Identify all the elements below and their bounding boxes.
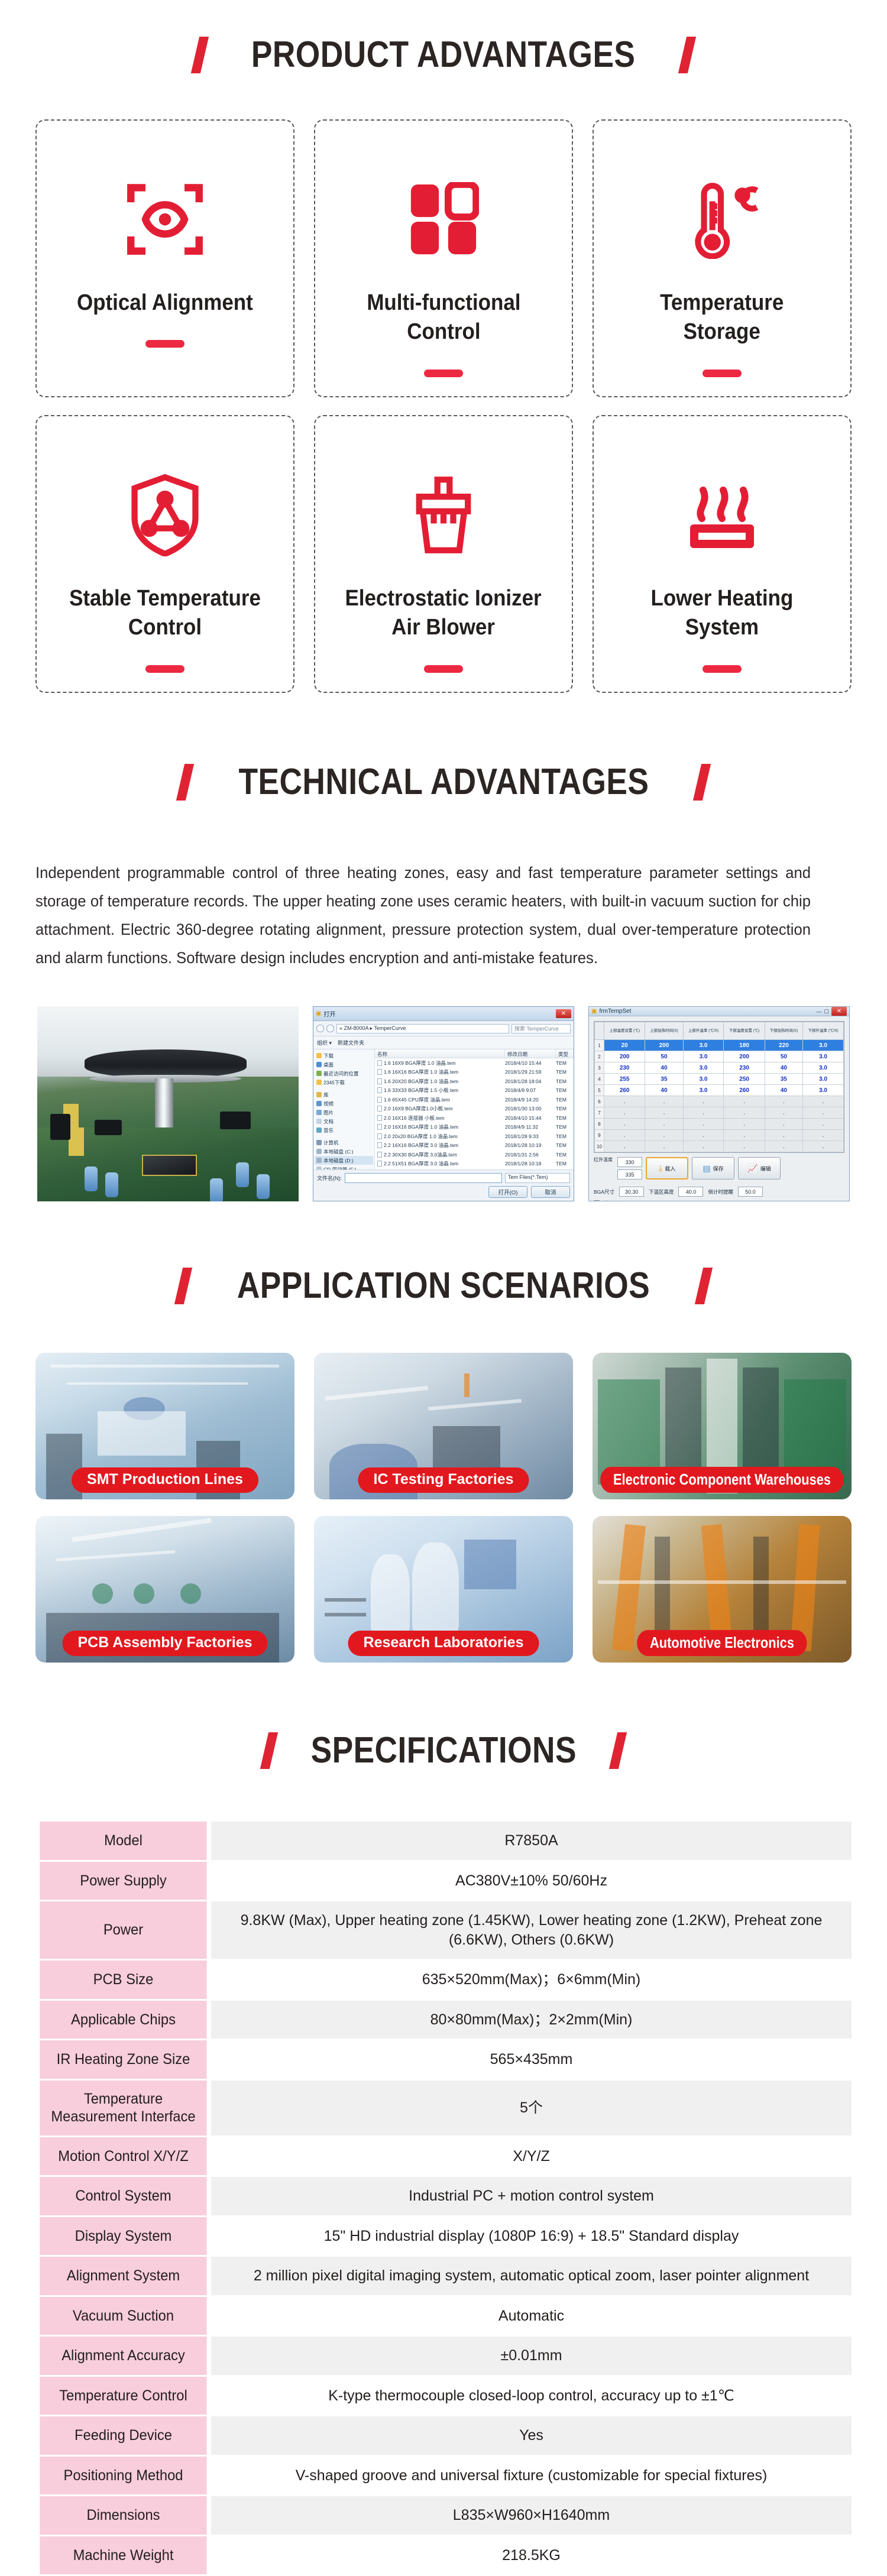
spec-row: Temperature Measurement Interface5个	[35, 2081, 852, 2136]
scenario-card-grid: SMT Production Lines IC Testing Factorie…	[0, 1353, 887, 1663]
spec-row: Feeding DeviceYes	[35, 2416, 852, 2455]
advantage-card-lower-heating-system[interactable]: Lower HeatingSystem	[593, 415, 852, 693]
section-title-text: SPECIFICATIONS	[310, 1732, 576, 1769]
advantage-card-grid: Optical Alignment Multi-functionalContro…	[0, 119, 887, 693]
spec-value: L835×W960×H1640mm	[211, 2496, 852, 2535]
chart-icon: 📈	[747, 1164, 757, 1174]
spec-key: Motion Control X/Y/Z	[40, 2137, 206, 2176]
temp-cell[interactable]: 3.0	[803, 1085, 844, 1096]
technical-description: Independent programmable control of thre…	[35, 858, 811, 972]
file-icon	[377, 1133, 382, 1139]
temp-cell[interactable]: .	[683, 1119, 724, 1130]
temp-column-header: 上部加热时间(S)	[645, 1022, 683, 1040]
spec-key: Temperature Control	[40, 2377, 206, 2415]
temp-cell[interactable]: .	[645, 1107, 683, 1119]
temp-cell[interactable]: .	[765, 1119, 802, 1130]
row-index: 5	[595, 1085, 604, 1096]
forward-icon[interactable]	[326, 1025, 334, 1032]
load-button[interactable]: ⤓ 载入	[646, 1157, 688, 1180]
section-title-text: APPLICATION SCENARIOS	[237, 1268, 650, 1304]
file-icon	[377, 1161, 382, 1167]
file-row[interactable]: 1.6 20X20 BGA厚度 1.0 油晶.tem2018/1/28 18:0…	[375, 1077, 574, 1086]
temp-cell[interactable]: 3.0	[803, 1051, 844, 1062]
spec-row: Machine Weight218.5KG	[35, 2536, 852, 2575]
spec-row: Display System15" HD industrial display …	[35, 2217, 852, 2256]
file-name: 1.6 33X33 BGA厚度 1.5 小板.tem	[384, 1087, 458, 1094]
dialog-sidebar[interactable]: 下载 桌面 最近访问的位置 2345下载 库 视频 图片 文档 音乐 计算机 本…	[313, 1049, 375, 1169]
file-type: TEM	[556, 1133, 574, 1139]
file-name: 2.2 30X30 BGA厚度 3.0油晶.tem	[384, 1151, 457, 1158]
advantage-card-optical-alignment[interactable]: Optical Alignment	[35, 119, 294, 397]
file-icon	[377, 1142, 382, 1148]
scenario-card-electronic-component-warehouses[interactable]: Electronic Component Warehouses	[593, 1353, 852, 1499]
spec-key: Control System	[40, 2177, 206, 2215]
edit-button[interactable]: 📈 编辑	[738, 1157, 781, 1180]
scenario-card-smt-production-lines[interactable]: SMT Production Lines	[35, 1353, 294, 1499]
title-slash-left-icon	[260, 1732, 278, 1769]
temp-row[interactable]: 3230403.0230403.0	[595, 1062, 844, 1074]
file-row[interactable]: 2.0 16X16 BGA厚度 1.0 油晶.tem2018/4/9 11:32…	[375, 1123, 574, 1132]
temp-cell[interactable]: .	[683, 1141, 724, 1152]
file-row[interactable]: 1.6 16X9 BGA厚度 1.0 油晶.tem2018/4/10 15:44…	[375, 1058, 574, 1068]
open-button[interactable]: 打开(O)	[488, 1186, 527, 1198]
spec-row: PCB Size635×520mm(Max)；6×6mm(Min)	[35, 1961, 852, 1999]
temp-cell[interactable]: 20	[604, 1040, 645, 1051]
spec-key: IR Heating Zone Size	[40, 2040, 206, 2079]
spec-row: Motion Control X/Y/ZX/Y/Z	[35, 2137, 852, 2176]
application-scenarios-title: APPLICATION SCENARIOS	[0, 1268, 887, 1304]
temp-cell[interactable]: 35	[645, 1074, 683, 1085]
advantage-card-electrostatic-ionizer[interactable]: Electrostatic IonizerAir Blower	[314, 415, 573, 693]
scenario-badge: Research Laboratories	[348, 1631, 539, 1656]
spec-key: PCB Size	[40, 1961, 206, 1999]
file-row[interactable]: 2.0 20x20 BGA厚度 1.0 油晶.tem2018/1/28 9:33…	[375, 1132, 574, 1141]
file-type: TEM	[556, 1142, 574, 1148]
temperature-profile-settings-screenshot[interactable]: ▣ frmTempSet ― ▢ ✕ 上部温度设置 (℃)上部加热时间(S)上部…	[588, 1006, 850, 1201]
file-icon	[377, 1060, 382, 1066]
dialog-navbar: « ZM-8000A ▸ TemperCurve 搜索 TemperCurve	[313, 1021, 574, 1036]
spec-value: 9.8KW (Max), Upper heating zone (1.45KW)…	[211, 1901, 852, 1959]
file-type: TEM	[556, 1087, 574, 1093]
file-type: TEM	[556, 1078, 574, 1084]
advantage-label: Lower HeatingSystem	[651, 584, 794, 643]
spec-value: V-shaped groove and universal fixture (c…	[211, 2457, 852, 2495]
temp-cell[interactable]: 40	[645, 1085, 683, 1096]
file-list-header: 名称 修改日期 类型	[375, 1049, 574, 1058]
filetype-select[interactable]: Tem Files(*.Tem)	[505, 1173, 570, 1183]
file-icon	[377, 1115, 382, 1121]
scenario-card-research-laboratories[interactable]: Research Laboratories	[314, 1516, 573, 1663]
product-advantages-section: PRODUCT ADVANTAGES Optical Alignment	[0, 0, 887, 693]
advantage-rule	[424, 665, 463, 673]
file-name: 2.0 16X16 BGA厚度 1.0 油晶.tem	[384, 1123, 458, 1130]
file-row[interactable]: 2.2 30X30 BGA厚度 3.0油晶.tem2018/1/31 2:56T…	[375, 1150, 574, 1159]
temp-cell[interactable]: 180	[724, 1040, 765, 1051]
spec-row: Alignment Accuracy±0.01mm	[35, 2337, 852, 2375]
bga-size-value[interactable]: 30,30	[619, 1187, 644, 1197]
sidebar-item: 本地磁盘 (C:)	[315, 1147, 373, 1156]
temp-column-header: 下部温度设置 (℃)	[724, 1022, 765, 1040]
optical-alignment-icon	[126, 175, 204, 264]
spec-value: 15" HD industrial display (1080P 16:9) +…	[211, 2217, 852, 2256]
temp-cell[interactable]: .	[604, 1119, 645, 1130]
temp-cell[interactable]: .	[683, 1096, 724, 1107]
spec-row: ModelR7850A	[35, 1822, 852, 1860]
temp-row[interactable]: 9......	[595, 1130, 844, 1141]
file-date: 2018/4/9 9:07	[505, 1087, 556, 1093]
temp-cell[interactable]: .	[765, 1130, 802, 1141]
temp-cell[interactable]: .	[724, 1130, 765, 1141]
file-type: TEM	[556, 1152, 574, 1158]
load-icon: ⤓	[659, 1164, 663, 1174]
temp-cell[interactable]: .	[803, 1141, 844, 1152]
new-folder-button[interactable]: 新建文件夹	[338, 1039, 364, 1046]
column-header-type[interactable]: 类型	[556, 1049, 574, 1058]
temp-cell[interactable]: 3.0	[683, 1040, 724, 1051]
sidebar-item: 文档	[315, 1117, 373, 1126]
file-name: 2.2 51X51 BGA厚度 3.0 油晶.tem	[384, 1160, 458, 1167]
temp-column-header: 上部升温率 (℃/S)	[683, 1022, 724, 1040]
scenario-card-ic-testing-factories[interactable]: IC Testing Factories	[314, 1353, 573, 1499]
spec-key: Display System	[40, 2217, 206, 2256]
sidebar-item: 最近访问的位置	[315, 1069, 373, 1078]
specifications-section: SPECIFICATIONS ModelR7850APower SupplyAC…	[0, 1663, 887, 2576]
title-slash-right-icon	[695, 1268, 713, 1304]
file-date: 2018/1/29 21:59	[505, 1069, 556, 1075]
ir-temp-value-1[interactable]: 330	[617, 1157, 642, 1167]
specifications-title: SPECIFICATIONS	[0, 1732, 887, 1769]
file-date: 2018/1/28 9:33	[505, 1133, 556, 1139]
product-advantages-title: PRODUCT ADVANTAGES	[0, 37, 887, 73]
timer-value[interactable]: 50.0	[738, 1187, 763, 1197]
temp-cell[interactable]: .	[724, 1141, 765, 1152]
temp-cell[interactable]: 3.0	[683, 1051, 724, 1062]
file-date: 2018/1/28 10:19	[505, 1142, 556, 1148]
row-index: 1	[595, 1040, 604, 1051]
file-name: 1.6 20X20 BGA厚度 1.0 油晶.tem	[384, 1078, 458, 1085]
file-date: 2018/4/9 11:32	[505, 1124, 556, 1130]
temp-cell[interactable]: 200	[645, 1040, 683, 1051]
file-icon	[377, 1106, 382, 1112]
temp-cell[interactable]: 3.0	[683, 1074, 724, 1085]
application-scenarios-section: APPLICATION SCENARIOS SMT Production Lin…	[0, 1201, 887, 1663]
temp-cell[interactable]: 50	[645, 1051, 683, 1062]
advantage-label: Optical Alignment	[77, 289, 253, 317]
temp-cell[interactable]: 35	[765, 1074, 802, 1085]
spec-value: R7850A	[211, 1822, 852, 1860]
spec-row: DimensionsL835×W960×H1640mm	[35, 2496, 852, 2535]
file-row[interactable]: 2.2 16X16 BGA厚度 3.0 油晶.tem2018/1/28 10:1…	[375, 1141, 574, 1151]
title-slash-right-icon	[609, 1732, 627, 1769]
file-type: TEM	[556, 1115, 574, 1121]
spec-value: X/Y/Z	[211, 2137, 852, 2176]
spec-key: Model	[40, 1822, 206, 1860]
spec-key: Alignment System	[40, 2257, 206, 2295]
file-type: TEM	[556, 1097, 574, 1103]
temp-cell[interactable]: 220	[765, 1040, 802, 1051]
dialog-commandbar: 组织 ▾ 新建文件夹	[313, 1036, 574, 1049]
temp-cell[interactable]: .	[765, 1096, 802, 1107]
temp-cell[interactable]: 3.0	[803, 1074, 844, 1085]
page-title: PRODUCT ADVANTAGES	[251, 37, 636, 73]
file-row[interactable]: 2.2 51X51 BGA厚度 3.0 油晶.tem2018/1/28 10:1…	[375, 1159, 574, 1169]
file-type: TEM	[556, 1069, 574, 1075]
temp-cell[interactable]: .	[604, 1141, 645, 1152]
spec-key: Dimensions	[40, 2496, 206, 2535]
file-icon	[377, 1152, 382, 1158]
advantage-label: Multi-functionalControl	[367, 289, 520, 347]
nitrogen-label: 使用氮气	[604, 1200, 624, 1201]
sidebar-item: 计算机	[315, 1138, 373, 1147]
lowzone-value[interactable]: 40.0	[678, 1187, 703, 1197]
nitrogen-checkbox[interactable]	[594, 1200, 600, 1201]
specifications-table: ModelR7850APower SupplyAC380V±10% 50/60H…	[35, 1820, 852, 2576]
spec-row: Vacuum SuctionAutomatic	[35, 2297, 852, 2335]
spec-value: 80×80mm(Max)；2×2mm(Min)	[211, 2001, 852, 2039]
spec-key: Power	[40, 1901, 206, 1959]
temp-row[interactable]: 1202003.01802203.0	[595, 1040, 844, 1051]
temp-cell[interactable]: 260	[724, 1085, 765, 1096]
spec-row: IR Heating Zone Size565×435mm	[35, 2040, 852, 2079]
temp-row[interactable]: 5260403.0260403.0	[595, 1085, 844, 1096]
scenario-badge: SMT Production Lines	[72, 1467, 258, 1493]
advantage-card-temperature-storage[interactable]: TemperatureStorage	[593, 119, 852, 397]
dialog-titlebar: ▣ 打开 ✕	[313, 1007, 574, 1021]
temp-cell[interactable]: 50	[765, 1051, 802, 1062]
temp-cell[interactable]: 40	[645, 1062, 683, 1074]
advantage-rule	[424, 370, 463, 377]
windows-open-file-dialog-screenshot[interactable]: ▣ 打开 ✕ « ZM-8000A ▸ TemperCurve 搜索 Tempe…	[313, 1006, 574, 1201]
spec-value: 635×520mm(Max)；6×6mm(Min)	[211, 1961, 852, 1999]
scenario-card-pcb-assembly-factories[interactable]: PCB Assembly Factories	[35, 1516, 294, 1663]
file-date: 2018/1/28 10:18	[505, 1161, 556, 1167]
spec-key: Positioning Method	[40, 2457, 206, 2495]
spec-value: ±0.01mm	[211, 2337, 852, 2375]
file-name: 2.0 16X9 BGA厚度1.0小板.tem	[384, 1105, 453, 1112]
temp-column-header: 上部温度设置 (℃)	[604, 1022, 645, 1040]
temp-cell[interactable]: 3.0	[803, 1062, 844, 1074]
title-slash-right-icon	[678, 37, 695, 73]
temp-cell[interactable]: .	[803, 1130, 844, 1141]
temp-cell[interactable]: 3.0	[803, 1040, 844, 1051]
file-type: TEM	[556, 1161, 574, 1167]
organize-button[interactable]: 组织 ▾	[317, 1039, 332, 1046]
row-index: 7	[595, 1107, 604, 1119]
temp-cell[interactable]: .	[604, 1130, 645, 1141]
spec-row: Temperature ControlK-type thermocouple c…	[35, 2377, 852, 2415]
save-icon: ▤	[703, 1164, 710, 1174]
column-header-name[interactable]: 名称	[375, 1049, 505, 1058]
file-name: 1.6 65X45 CPU厚度 油晶.tem	[384, 1096, 450, 1103]
title-slash-left-icon	[191, 37, 209, 73]
row-index: 3	[595, 1062, 604, 1074]
file-row[interactable]: 1.6 65X45 CPU厚度 油晶.tem2018/4/9 14:20TEM	[375, 1095, 574, 1104]
temp-cell[interactable]: .	[645, 1130, 683, 1141]
temperature-profile-table[interactable]: 上部温度设置 (℃)上部加热时间(S)上部升温率 (℃/S)下部温度设置 (℃)…	[594, 1021, 844, 1153]
spec-key: Alignment Accuracy	[40, 2337, 206, 2375]
temp-cell[interactable]: .	[604, 1096, 645, 1107]
bga-size-label: BGA尺寸	[594, 1188, 614, 1195]
file-type: TEM	[556, 1106, 574, 1112]
file-icon	[377, 1124, 382, 1130]
column-header-date[interactable]: 修改日期	[505, 1049, 556, 1058]
search-input[interactable]: 搜索 TemperCurve	[512, 1024, 571, 1033]
multi-function-grid-icon	[408, 175, 479, 264]
file-row[interactable]: 2.0 16X9 BGA厚度1.0小板.tem2018/1/30 13:00TE…	[375, 1104, 574, 1114]
file-icon	[377, 1078, 382, 1084]
file-date: 2018/4/10 15:44	[505, 1060, 556, 1066]
temp-cell[interactable]: .	[803, 1119, 844, 1130]
temp-cell[interactable]: 230	[724, 1062, 765, 1074]
advantage-label: Stable TemperatureControl	[69, 584, 261, 643]
lowzone-label: 下温区高度	[649, 1188, 674, 1195]
temp-row[interactable]: 4255353.0250353.0	[595, 1074, 844, 1085]
sidebar-item: 库	[315, 1090, 373, 1099]
temp-column-header: 下部加热时间(S)	[765, 1022, 802, 1040]
temp-row[interactable]: 2200503.0200503.0	[595, 1051, 844, 1062]
technical-advantages-title: TECHNICAL ADVANTAGES	[0, 764, 887, 801]
scenario-badge: PCB Assembly Factories	[62, 1631, 267, 1656]
temp-cell[interactable]: 255	[604, 1074, 645, 1085]
file-name: 2.0 16X16 连接器 小板.tem	[384, 1114, 445, 1122]
ir-temp-value-2[interactable]: 335	[617, 1169, 642, 1180]
cancel-button[interactable]: 取消	[531, 1186, 570, 1198]
sidebar-item: 音乐	[315, 1126, 373, 1135]
temp-cell[interactable]: 200	[604, 1051, 645, 1062]
advantage-rule	[145, 340, 184, 348]
dialog-footer: 文件名(N): Tem Files(*.Tem) 打开(O) 取消	[313, 1169, 574, 1201]
temp-cell[interactable]: 230	[604, 1062, 645, 1074]
spec-key: Machine Weight	[40, 2536, 206, 2575]
sidebar-item: 2345下载	[315, 1078, 373, 1087]
sidebar-item: 桌面	[315, 1060, 373, 1069]
dialog-title: 打开	[323, 1009, 553, 1018]
temp-cell[interactable]: 250	[724, 1074, 765, 1085]
spec-row: Control SystemIndustrial PC + motion con…	[35, 2177, 852, 2215]
temp-row[interactable]: 7......	[595, 1107, 844, 1119]
temp-cell[interactable]: 3.0	[683, 1062, 724, 1074]
file-name: 2.2 16X16 BGA厚度 3.0 油晶.tem	[384, 1142, 458, 1149]
temp-row[interactable]: 8......	[595, 1119, 844, 1130]
filename-label: 文件名(N):	[317, 1174, 342, 1182]
sidebar-item: 本地磁盘 (D:)	[315, 1156, 373, 1165]
spec-key: Feeding Device	[40, 2416, 206, 2455]
temp-cell[interactable]: .	[604, 1107, 645, 1119]
row-index: 8	[595, 1119, 604, 1130]
spec-key: Applicable Chips	[40, 2001, 206, 2039]
technical-images-row: ▣ 打开 ✕ « ZM-8000A ▸ TemperCurve 搜索 Tempe…	[0, 1006, 887, 1201]
temp-cell[interactable]: .	[803, 1107, 844, 1119]
temp-cell[interactable]: .	[803, 1096, 844, 1107]
ionizer-blower-icon	[407, 471, 480, 559]
temp-cell[interactable]: 40	[765, 1062, 802, 1074]
row-index: 10	[595, 1141, 604, 1152]
section-title-text: TECHNICAL ADVANTAGES	[238, 764, 649, 801]
temp-cell[interactable]: .	[683, 1130, 724, 1141]
file-name: 2.0 20x20 BGA厚度 1.0 油晶.tem	[384, 1133, 458, 1140]
temp-cell[interactable]: .	[765, 1107, 802, 1119]
row-index: 6	[595, 1096, 604, 1107]
temp-cell[interactable]: .	[724, 1107, 765, 1119]
advantage-card-multi-functional-control[interactable]: Multi-functionalControl	[314, 119, 573, 397]
temp-panel-titlebar: ▣ frmTempSet ― ▢ ✕	[589, 1007, 849, 1016]
spec-row: Power9.8KW (Max), Upper heating zone (1.…	[35, 1901, 852, 1959]
close-icon[interactable]: ✕	[831, 1007, 847, 1016]
spec-row: Applicable Chips80×80mm(Max)；2×2mm(Min)	[35, 2001, 852, 2039]
spec-row: Positioning MethodV-shaped groove and un…	[35, 2457, 852, 2495]
filename-input[interactable]	[345, 1173, 502, 1183]
temp-row[interactable]: 10......	[595, 1141, 844, 1152]
scenario-card-automotive-electronics[interactable]: Automotive Electronics	[593, 1516, 852, 1663]
title-slash-left-icon	[174, 1268, 192, 1304]
spec-value: K-type thermocouple closed-loop control,…	[211, 2377, 852, 2415]
sidebar-item: 下载	[315, 1051, 373, 1060]
path-breadcrumb[interactable]: « ZM-8000A ▸ TemperCurve	[336, 1024, 509, 1033]
ir-temp-label: 红外温度	[594, 1157, 614, 1163]
advantage-label: TemperatureStorage	[660, 289, 784, 347]
shield-triangle-icon	[128, 471, 202, 559]
temp-cell[interactable]: 3.0	[683, 1085, 724, 1096]
file-date: 2018/4/9 14:20	[505, 1097, 556, 1103]
file-row[interactable]: 1.6 33X33 BGA厚度 1.5 小板.tem2018/4/9 9:07T…	[375, 1086, 574, 1096]
spec-row: Alignment System2 million pixel digital …	[35, 2257, 852, 2295]
advantage-rule	[703, 370, 742, 377]
file-icon	[377, 1097, 382, 1103]
back-icon[interactable]	[316, 1025, 324, 1032]
save-button[interactable]: ▤ 保存	[692, 1157, 734, 1180]
scenario-badge: Electronic Component Warehouses	[600, 1467, 844, 1493]
temp-cell[interactable]: 200	[724, 1051, 765, 1062]
file-date: 2018/1/30 13:00	[505, 1106, 556, 1112]
sidebar-item: 视频	[315, 1099, 373, 1108]
temp-cell[interactable]: .	[683, 1107, 724, 1119]
file-icon	[377, 1087, 382, 1093]
advantage-card-stable-temperature-control[interactable]: Stable TemperatureControl	[35, 415, 294, 693]
row-index: 9	[595, 1130, 604, 1141]
thermometer-celsius-icon	[685, 175, 759, 264]
file-row[interactable]: 1.6 16X16 BGA厚度 1.0 油晶.tem2018/1/29 21:5…	[375, 1068, 574, 1077]
title-slash-left-icon	[176, 764, 193, 801]
file-list[interactable]: 名称 修改日期 类型 1.6 16X9 BGA厚度 1.0 油晶.tem2018…	[375, 1049, 574, 1169]
temp-row[interactable]: 6......	[595, 1096, 844, 1107]
temp-cell[interactable]: .	[645, 1141, 683, 1152]
spec-value: 218.5KG	[211, 2536, 852, 2575]
spec-value: AC380V±10% 50/60Hz	[211, 1862, 852, 1900]
temp-cell[interactable]: .	[724, 1119, 765, 1130]
spec-key: Power Supply	[40, 1862, 206, 1900]
sidebar-item: CD 驱动器 (F:)	[315, 1165, 373, 1169]
row-index: 2	[595, 1051, 604, 1062]
file-row[interactable]: 2.0 16X16 连接器 小板.tem2018/4/10 15:44TEM	[375, 1113, 574, 1123]
spec-value: Automatic	[211, 2297, 852, 2335]
temp-cell[interactable]: .	[724, 1096, 765, 1107]
spec-value: 565×435mm	[211, 2040, 852, 2079]
timer-label: 倒计时提醒	[708, 1188, 733, 1195]
temp-column-header: 下部升温率 (℃/S)	[803, 1022, 844, 1040]
temp-cell[interactable]: .	[645, 1119, 683, 1130]
file-date: 2018/4/10 15:44	[505, 1115, 556, 1121]
file-type: TEM	[556, 1124, 574, 1130]
temp-cell[interactable]: .	[765, 1141, 802, 1152]
spec-value: 2 million pixel digital imaging system, …	[211, 2257, 852, 2295]
temp-cell[interactable]: 40	[765, 1085, 802, 1096]
spec-key: Temperature Measurement Interface	[40, 2081, 206, 2136]
temp-cell[interactable]: .	[645, 1096, 683, 1107]
temp-cell[interactable]: 260	[604, 1085, 645, 1096]
close-icon[interactable]: ✕	[556, 1009, 571, 1018]
bga-nozzle-over-pcb-photo	[37, 1006, 299, 1201]
file-name: 1.6 16X16 BGA厚度 1.0 油晶.tem	[384, 1068, 458, 1075]
